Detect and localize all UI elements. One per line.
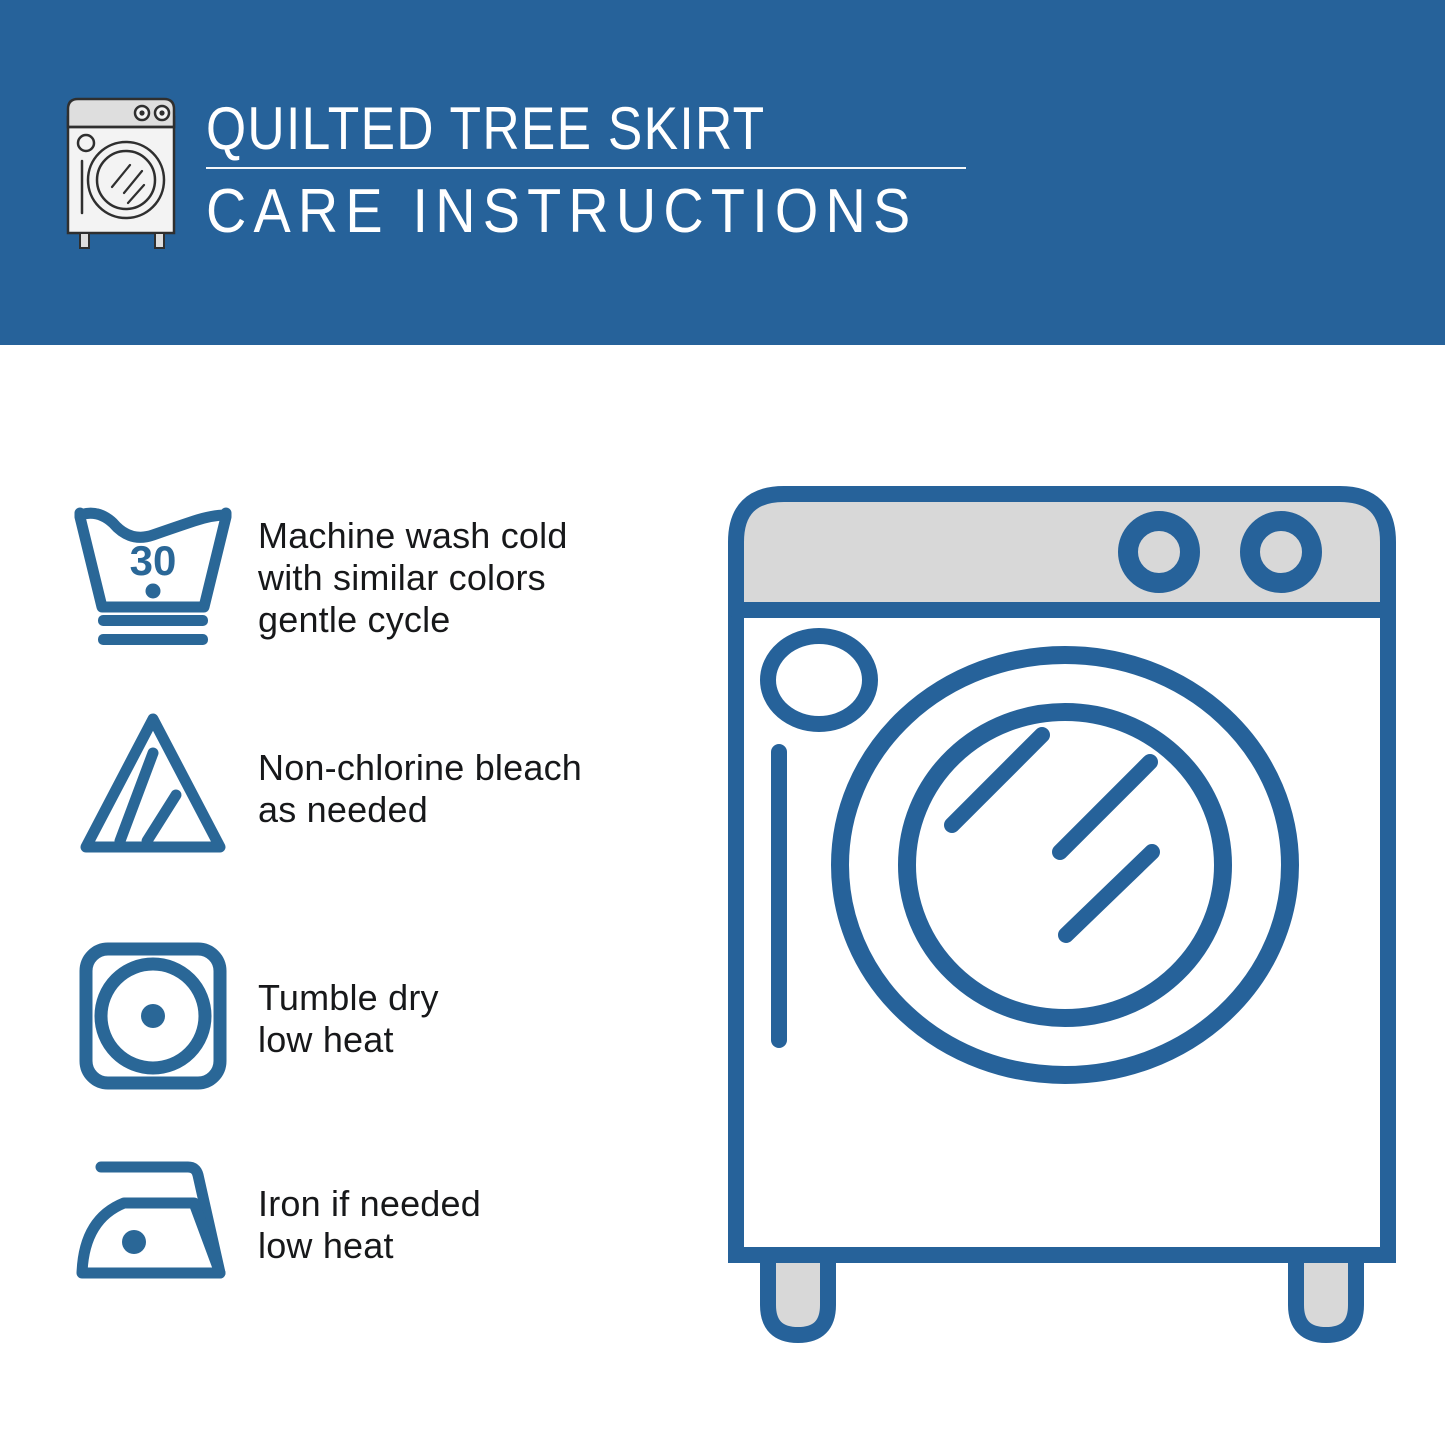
- washer-knob-right: [1250, 521, 1312, 583]
- care-instruction-row-tumble-dry: Tumble dry low heat: [68, 935, 688, 1095]
- header-content: QUILTED TREE SKIRT CARE INSTRUCTIONS: [62, 95, 996, 250]
- care-instruction-text: Iron if needed low heat: [258, 1183, 481, 1267]
- care-instruction-row-machine-wash: 30 Machine wash cold with similar colors…: [68, 495, 688, 655]
- tumble-dry-low-icon: [68, 935, 238, 1095]
- washing-machine-icon: [62, 95, 182, 250]
- header-band: QUILTED TREE SKIRT CARE INSTRUCTIONS: [0, 0, 1445, 345]
- page-title: QUILTED TREE SKIRT: [206, 97, 886, 161]
- header-divider: [206, 167, 966, 169]
- iron-low-heat-icon: [68, 1145, 238, 1305]
- wash-temperature-label: 30: [130, 537, 177, 584]
- care-instruction-row-bleach: Non-chlorine bleach as needed: [68, 705, 688, 865]
- washer-knob-left: [1128, 521, 1190, 583]
- machine-wash-30-icon: 30: [68, 495, 238, 655]
- care-instruction-text: Machine wash cold with similar colors ge…: [258, 515, 568, 641]
- care-instruction-text: Non-chlorine bleach as needed: [258, 747, 582, 831]
- page-subtitle: CARE INSTRUCTIONS: [206, 179, 917, 245]
- header-text-block: QUILTED TREE SKIRT CARE INSTRUCTIONS: [206, 97, 996, 245]
- care-instruction-row-iron: Iron if needed low heat: [68, 1145, 688, 1305]
- front-load-washing-machine-illustration: [722, 480, 1402, 1380]
- washer-leg-right: [1296, 1255, 1356, 1335]
- non-chlorine-bleach-icon: [68, 705, 238, 865]
- care-instructions-page: QUILTED TREE SKIRT CARE INSTRUCTIONS 30 …: [0, 0, 1445, 1445]
- care-instruction-text: Tumble dry low heat: [258, 977, 439, 1061]
- washer-leg-left: [768, 1255, 828, 1335]
